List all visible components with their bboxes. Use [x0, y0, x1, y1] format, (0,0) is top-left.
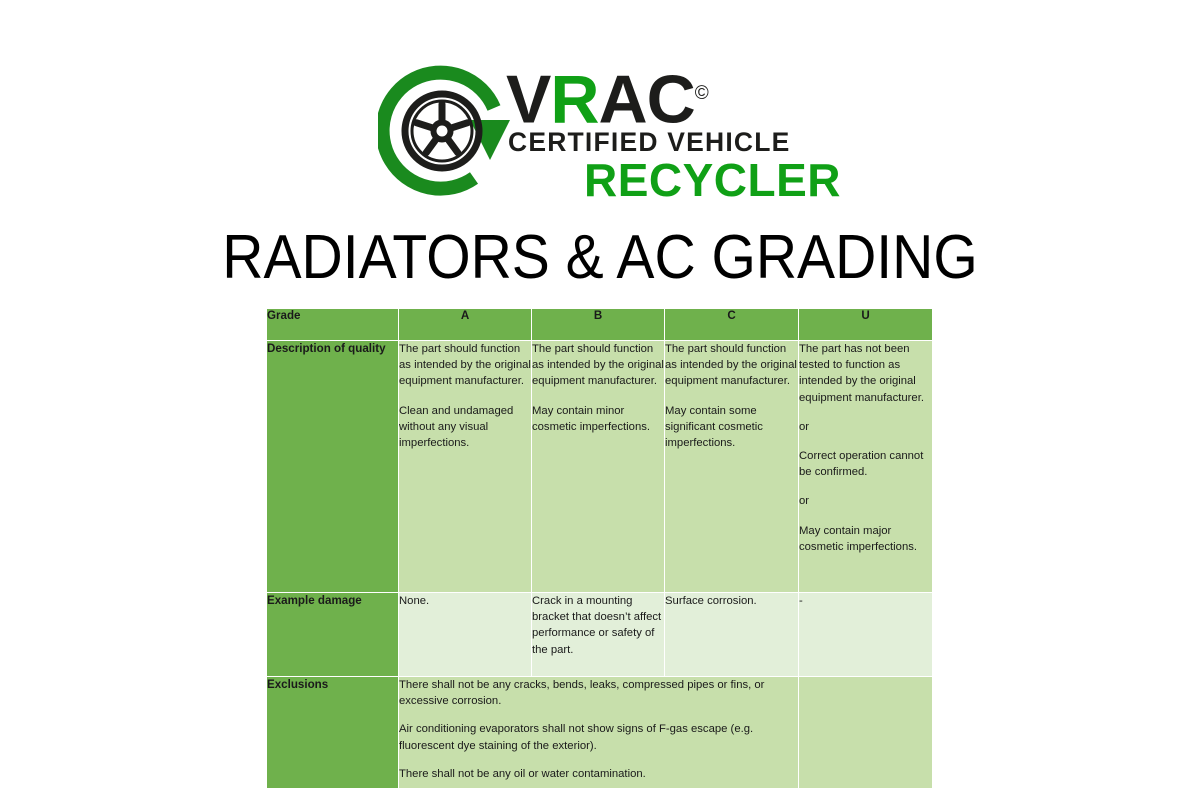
column-header-u: U	[799, 309, 933, 341]
cell-paragraph: May contain major cosmetic imperfections…	[799, 523, 932, 555]
cell-exclusions-merged: There shall not be any cracks, bends, le…	[399, 677, 799, 789]
cell-paragraph: The part should function as intended by …	[665, 341, 798, 390]
cell-paragraph: The part has not been tested to function…	[799, 341, 932, 406]
cell-paragraph: Crack in a mounting bracket that doesn’t…	[532, 593, 664, 658]
cell-exclusions-u	[799, 677, 933, 789]
table-header-row: Grade A B C U	[267, 309, 933, 341]
cell-paragraph: -	[799, 593, 932, 609]
cell-paragraph: Correct operation cannot be confirmed.	[799, 448, 932, 480]
table-row-example-damage: Example damage None. Crack in a mounting…	[267, 593, 933, 677]
column-header-grade: Grade	[267, 309, 399, 341]
cell-paragraph: Clean and undamaged without any visual i…	[399, 403, 531, 452]
grading-poster-page: VRAC© CERTIFIED VEHICLE RECYCLER RADIATO…	[0, 0, 1200, 800]
row-label-exclusions: Exclusions	[267, 677, 399, 789]
cell-example-damage-a: None.	[399, 593, 532, 677]
copyright-icon: ©	[695, 83, 709, 104]
column-header-a: A	[399, 309, 532, 341]
cell-example-damage-b: Crack in a mounting bracket that doesn’t…	[532, 593, 665, 677]
row-label-description-of-quality: Description of quality	[267, 341, 399, 593]
cell-paragraph: There shall not be any cracks, bends, le…	[399, 677, 798, 709]
cell-description-u: The part has not been tested to function…	[799, 341, 933, 593]
cell-paragraph: May contain some significant cosmetic im…	[665, 403, 798, 452]
cell-paragraph: None.	[399, 593, 531, 609]
column-header-c: C	[665, 309, 799, 341]
table-row-description-of-quality: Description of quality The part should f…	[267, 341, 933, 593]
cell-description-b: The part should function as intended by …	[532, 341, 665, 593]
logo-tagline-certified-vehicle: CERTIFIED VEHICLE	[508, 128, 790, 156]
cell-paragraph: or	[799, 493, 932, 509]
logo-wordmark: VRAC© CERTIFIED VEHICLE RECYCLER	[506, 62, 842, 202]
grading-table: Grade A B C U Description of quality The…	[266, 308, 933, 789]
recycle-arrow-wheel-icon	[378, 64, 518, 200]
cell-paragraph: The part should function as intended by …	[399, 341, 531, 390]
logo-brand-vrac: VRAC©	[506, 58, 709, 136]
cell-description-c: The part should function as intended by …	[665, 341, 799, 593]
cell-paragraph: Surface corrosion.	[665, 593, 798, 609]
logo-tagline-recycler: RECYCLER	[584, 156, 841, 204]
cell-example-damage-c: Surface corrosion.	[665, 593, 799, 677]
row-label-example-damage: Example damage	[267, 593, 399, 677]
vrac-logo: VRAC© CERTIFIED VEHICLE RECYCLER	[378, 62, 838, 202]
page-title: RADIATORS & AC GRADING	[48, 222, 1152, 294]
table-row-exclusions: Exclusions There shall not be any cracks…	[267, 677, 933, 789]
cell-example-damage-u: -	[799, 593, 933, 677]
cell-paragraph: Air conditioning evaporators shall not s…	[399, 721, 798, 753]
column-header-b: B	[532, 309, 665, 341]
cell-paragraph: May contain minor cosmetic imperfections…	[532, 403, 664, 435]
cell-paragraph: The part should function as intended by …	[532, 341, 664, 390]
cell-paragraph: There shall not be any oil or water cont…	[399, 766, 798, 782]
cell-paragraph: or	[799, 419, 932, 435]
cell-description-a: The part should function as intended by …	[399, 341, 532, 593]
